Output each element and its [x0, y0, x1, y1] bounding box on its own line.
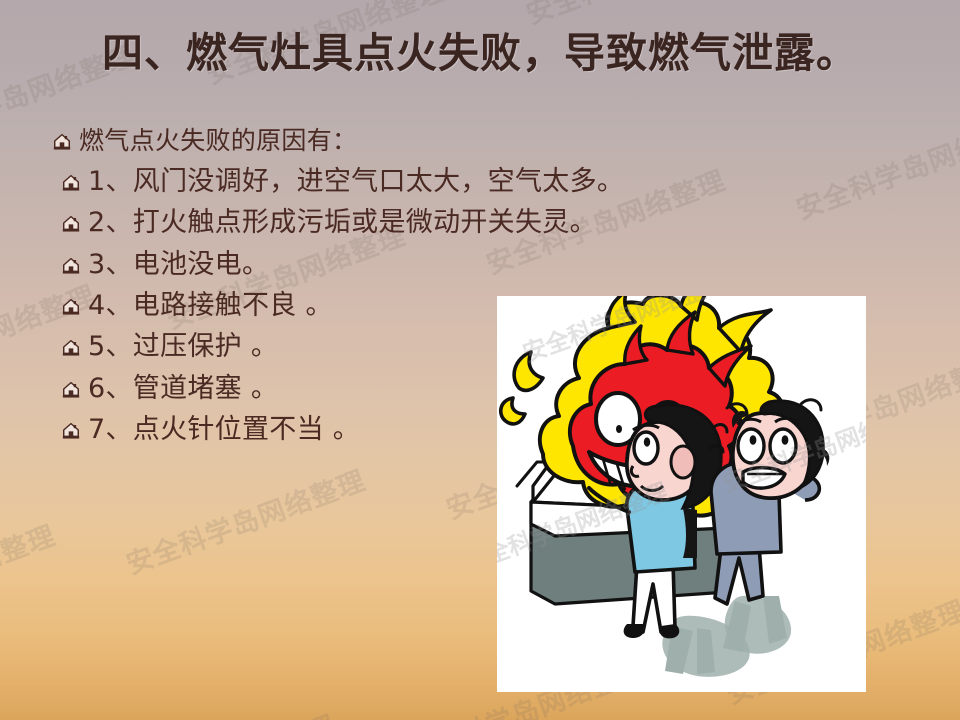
home-icon — [61, 255, 83, 285]
list-item-text: 燃气点火失败的原因有： — [79, 126, 357, 155]
list-item: 6、管道堵塞 。 — [52, 373, 522, 404]
list-item: 7、点火针位置不当 。 — [52, 414, 522, 445]
list-item-text: 3、电池没电。 — [88, 249, 269, 280]
list-item: 4、电路接触不良 。 — [52, 290, 522, 321]
list-item-text: 4、电路接触不良 。 — [88, 290, 333, 321]
cartoon-svg — [497, 296, 866, 692]
home-icon — [61, 379, 83, 409]
home-icon — [61, 172, 83, 202]
watermark-text: 安全科学岛网络整理 — [520, 0, 770, 32]
list-item-text: 1、风门没调好，进空气口太大，空气太多。 — [88, 166, 624, 197]
page-title: 四、燃气灶具点火失败，导致燃气泄露。 — [0, 28, 960, 79]
list-item-text: 7、点火针位置不当 。 — [88, 414, 360, 445]
list-item-text: 2、打火触点形成污垢或是微动开关失灵。 — [88, 207, 597, 238]
home-icon — [61, 296, 83, 326]
list-item: 2、打火触点形成污垢或是微动开关失灵。 — [52, 207, 522, 238]
home-icon — [61, 420, 83, 450]
illustration-gas-stove-flame: 安全科学岛网络整理 安全科学岛网络整理 安全科学岛网络整理 — [497, 296, 866, 692]
watermark-text: 安全科学岛网络整理 — [0, 514, 60, 637]
list-item: 3、电池没电。 — [52, 249, 522, 280]
slide-canvas: 安全科学岛网络整理 安全科学岛网络整理 安全科学岛网络整理 安全科学岛网络整理 … — [0, 0, 960, 720]
watermark-text: 安全科学岛网络整理 — [90, 704, 340, 720]
list-item-text: 5、过压保护 。 — [88, 331, 278, 362]
list-item-lead: 燃气点火失败的原因有： — [52, 126, 522, 156]
list-item: 1、风门没调好，进空气口太大，空气太多。 — [52, 166, 522, 197]
reason-list: 燃气点火失败的原因有： 1、风门没调好，进空气口太大，空气太多。 — [52, 126, 522, 455]
watermark-text: 安全科学岛网络整理 — [120, 459, 370, 582]
home-icon — [52, 131, 74, 161]
list-item-text: 6、管道堵塞 。 — [88, 373, 278, 404]
home-icon — [61, 337, 83, 367]
list-item: 5、过压保护 。 — [52, 331, 522, 362]
watermark-text: 安全科学岛网络整理 — [790, 104, 960, 227]
home-icon — [61, 213, 83, 243]
